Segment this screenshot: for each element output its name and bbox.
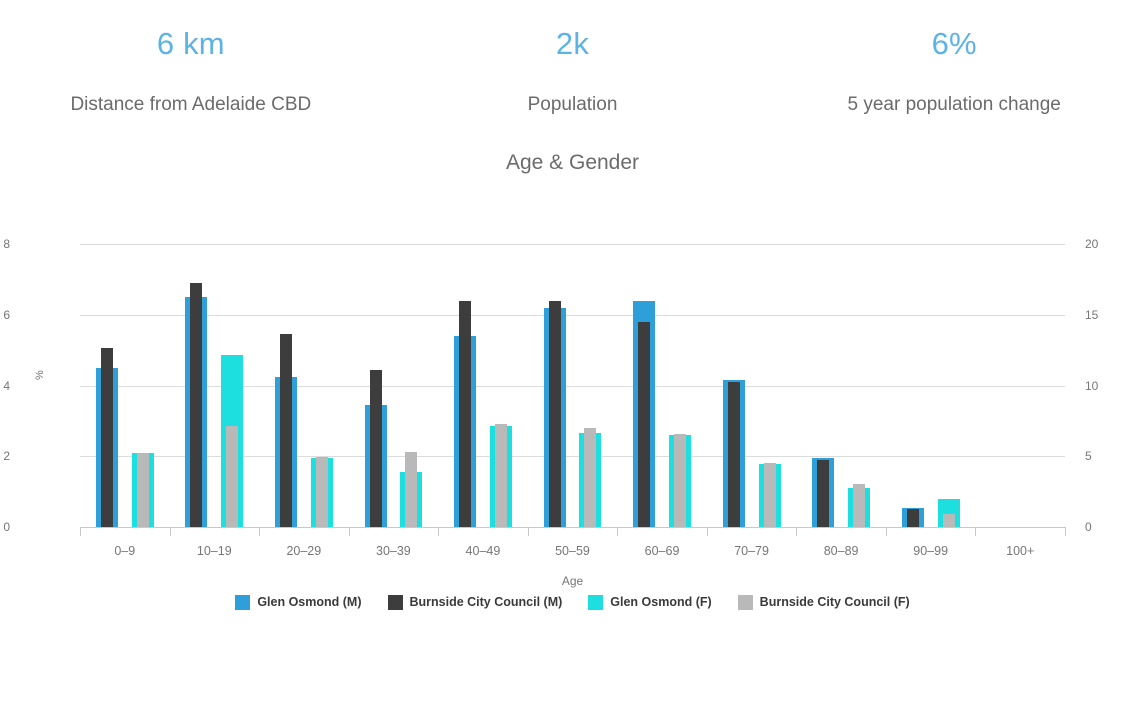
x-axis-tick — [80, 527, 81, 536]
stat-value-population-change: 6% — [789, 24, 1119, 64]
bar[interactable] — [674, 434, 686, 527]
bar[interactable] — [853, 484, 865, 527]
legend-item-burnside-f[interactable]: Burnside City Council (F) — [738, 595, 910, 610]
plot-area: Age 00254106158200–910–1920–2930–3940–49… — [80, 244, 1065, 527]
bar[interactable] — [190, 283, 202, 527]
legend-label-glen-osmond-m: Glen Osmond (M) — [257, 595, 361, 610]
bar[interactable] — [370, 370, 382, 527]
bar[interactable] — [764, 463, 776, 527]
legend-swatch-burnside-f — [738, 595, 753, 610]
bar[interactable] — [101, 348, 113, 527]
stat-label-population-change: 5 year population change — [789, 91, 1119, 118]
x-axis-tick-label: 50–59 — [528, 544, 618, 558]
stat-card-distance: 6 km Distance from Adelaide CBD — [0, 24, 382, 118]
y-axis-tick-left: 2 — [0, 450, 10, 462]
stat-value-distance: 6 km — [26, 24, 356, 64]
bar[interactable] — [280, 334, 292, 527]
x-axis-label: Age — [80, 574, 1065, 588]
x-axis-tick — [438, 527, 439, 536]
legend-swatch-glen-osmond-m — [235, 595, 250, 610]
y-axis-tick-left: 8 — [0, 238, 10, 250]
bar[interactable] — [817, 460, 829, 527]
legend-swatch-burnside-m — [388, 595, 403, 610]
x-axis-tick — [349, 527, 350, 536]
y-axis-tick-right: 20 — [1085, 238, 1125, 250]
bar[interactable] — [638, 322, 650, 527]
x-axis-tick-label: 80–89 — [796, 544, 886, 558]
y-axis-tick-right: 0 — [1085, 521, 1125, 533]
x-axis-tick-label: 90–99 — [886, 544, 976, 558]
y-axis-tick-right: 5 — [1085, 450, 1125, 462]
x-axis-tick-label: 20–29 — [259, 544, 349, 558]
y-axis-label-left: % — [34, 370, 46, 380]
bar[interactable] — [316, 457, 328, 527]
x-axis-tick — [975, 527, 976, 536]
x-axis-tick-label: 30–39 — [349, 544, 439, 558]
x-axis-tick-label: 70–79 — [707, 544, 797, 558]
legend-item-glen-osmond-f[interactable]: Glen Osmond (F) — [588, 595, 711, 610]
bar[interactable] — [943, 514, 955, 527]
bar[interactable] — [549, 301, 561, 527]
bar[interactable] — [137, 453, 149, 527]
legend-label-burnside-m: Burnside City Council (M) — [410, 595, 563, 610]
legend-swatch-glen-osmond-f — [588, 595, 603, 610]
chart-title: Age & Gender — [0, 148, 1145, 178]
y-axis-tick-left: 4 — [0, 380, 10, 392]
x-axis-tick-label: 60–69 — [617, 544, 707, 558]
bar[interactable] — [459, 301, 471, 527]
chart-legend: Glen Osmond (M) Burnside City Council (M… — [0, 595, 1145, 610]
stat-card-population: 2k Population — [382, 24, 764, 118]
x-axis-tick-label: 10–19 — [170, 544, 260, 558]
legend-label-burnside-f: Burnside City Council (F) — [760, 595, 910, 610]
legend-label-glen-osmond-f: Glen Osmond (F) — [610, 595, 711, 610]
bar[interactable] — [907, 509, 919, 527]
y-axis-tick-left: 6 — [0, 309, 10, 321]
x-axis-tick — [886, 527, 887, 536]
stat-label-distance: Distance from Adelaide CBD — [26, 91, 356, 118]
legend-item-glen-osmond-m[interactable]: Glen Osmond (M) — [235, 595, 361, 610]
x-axis-line — [80, 527, 1065, 528]
bar[interactable] — [405, 452, 417, 527]
x-axis-tick — [1065, 527, 1066, 536]
legend-item-burnside-m[interactable]: Burnside City Council (M) — [388, 595, 563, 610]
age-gender-chart: Age & Gender % Age 00254106158200–910–19… — [0, 148, 1145, 618]
summary-stats-row: 6 km Distance from Adelaide CBD 2k Popul… — [0, 0, 1145, 118]
x-axis-tick — [528, 527, 529, 536]
stat-card-population-change: 6% 5 year population change — [763, 24, 1145, 118]
x-axis-tick-label: 40–49 — [438, 544, 528, 558]
bar[interactable] — [584, 428, 596, 527]
x-axis-tick — [707, 527, 708, 536]
x-axis-tick — [259, 527, 260, 536]
bar[interactable] — [728, 382, 740, 527]
y-axis-tick-left: 0 — [0, 521, 10, 533]
gridline — [80, 244, 1065, 245]
x-axis-tick-label: 100+ — [975, 544, 1065, 558]
x-axis-tick — [796, 527, 797, 536]
y-axis-tick-right: 15 — [1085, 309, 1125, 321]
stat-value-population: 2k — [408, 24, 738, 64]
x-axis-tick — [170, 527, 171, 536]
y-axis-tick-right: 10 — [1085, 380, 1125, 392]
stat-label-population: Population — [408, 91, 738, 118]
gridline — [80, 315, 1065, 316]
x-axis-tick-label: 0–9 — [80, 544, 170, 558]
bar[interactable] — [495, 424, 507, 527]
bar[interactable] — [226, 426, 238, 527]
x-axis-tick — [617, 527, 618, 536]
